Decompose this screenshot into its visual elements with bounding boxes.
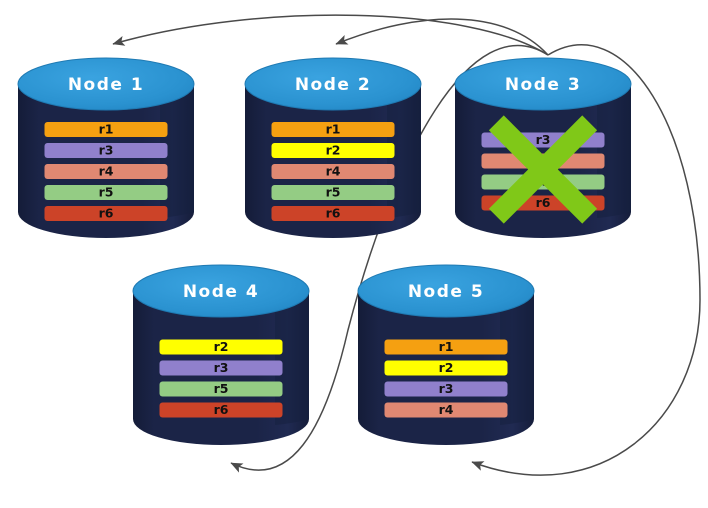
failure-x-icon — [489, 115, 597, 223]
diagram-canvas: Node 1r1r3r4r5r6Node 2r1r2r4r5r6Node 3r3… — [0, 0, 708, 508]
failure-marker-layer — [0, 0, 708, 508]
